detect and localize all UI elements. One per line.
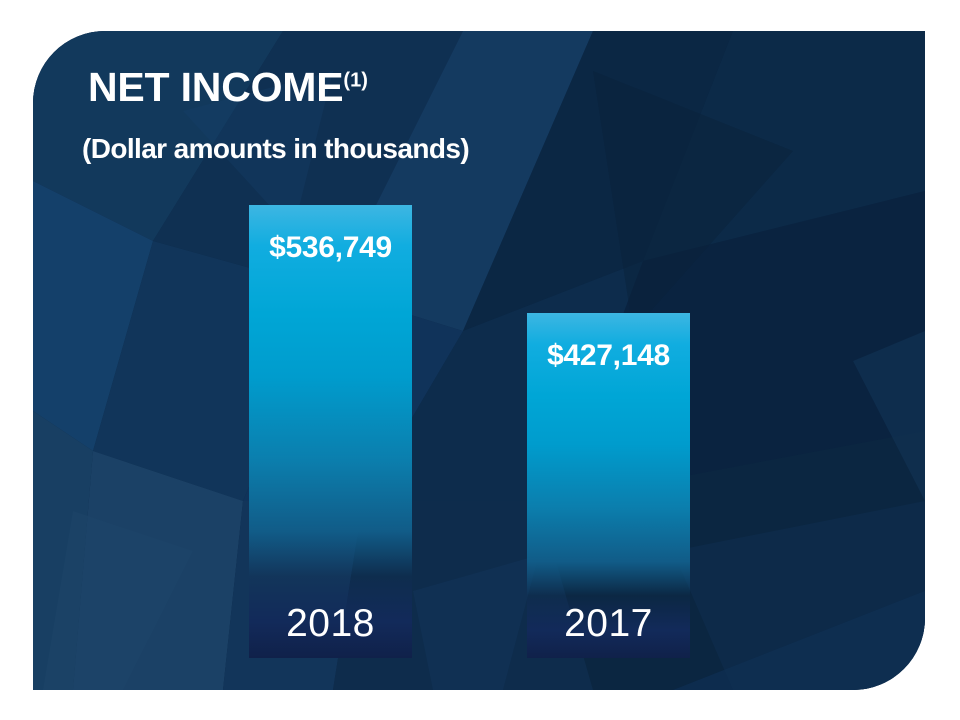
- bar-category-label-2017: 2017: [527, 602, 690, 646]
- bar-2017: $427,148 2017: [527, 313, 690, 658]
- bar-category-label-2018: 2018: [249, 602, 412, 646]
- bar-value-label-2017: $427,148: [527, 339, 690, 373]
- bar-2018: $536,749 2018: [249, 205, 412, 658]
- bar-chart-plot-area: $536,749 2018 $427,148 2017: [33, 31, 925, 690]
- slide-canvas: NET INCOME(1) (Dollar amounts in thousan…: [0, 0, 960, 720]
- chart-panel: NET INCOME(1) (Dollar amounts in thousan…: [33, 31, 925, 690]
- bar-value-label-2018: $536,749: [249, 231, 412, 265]
